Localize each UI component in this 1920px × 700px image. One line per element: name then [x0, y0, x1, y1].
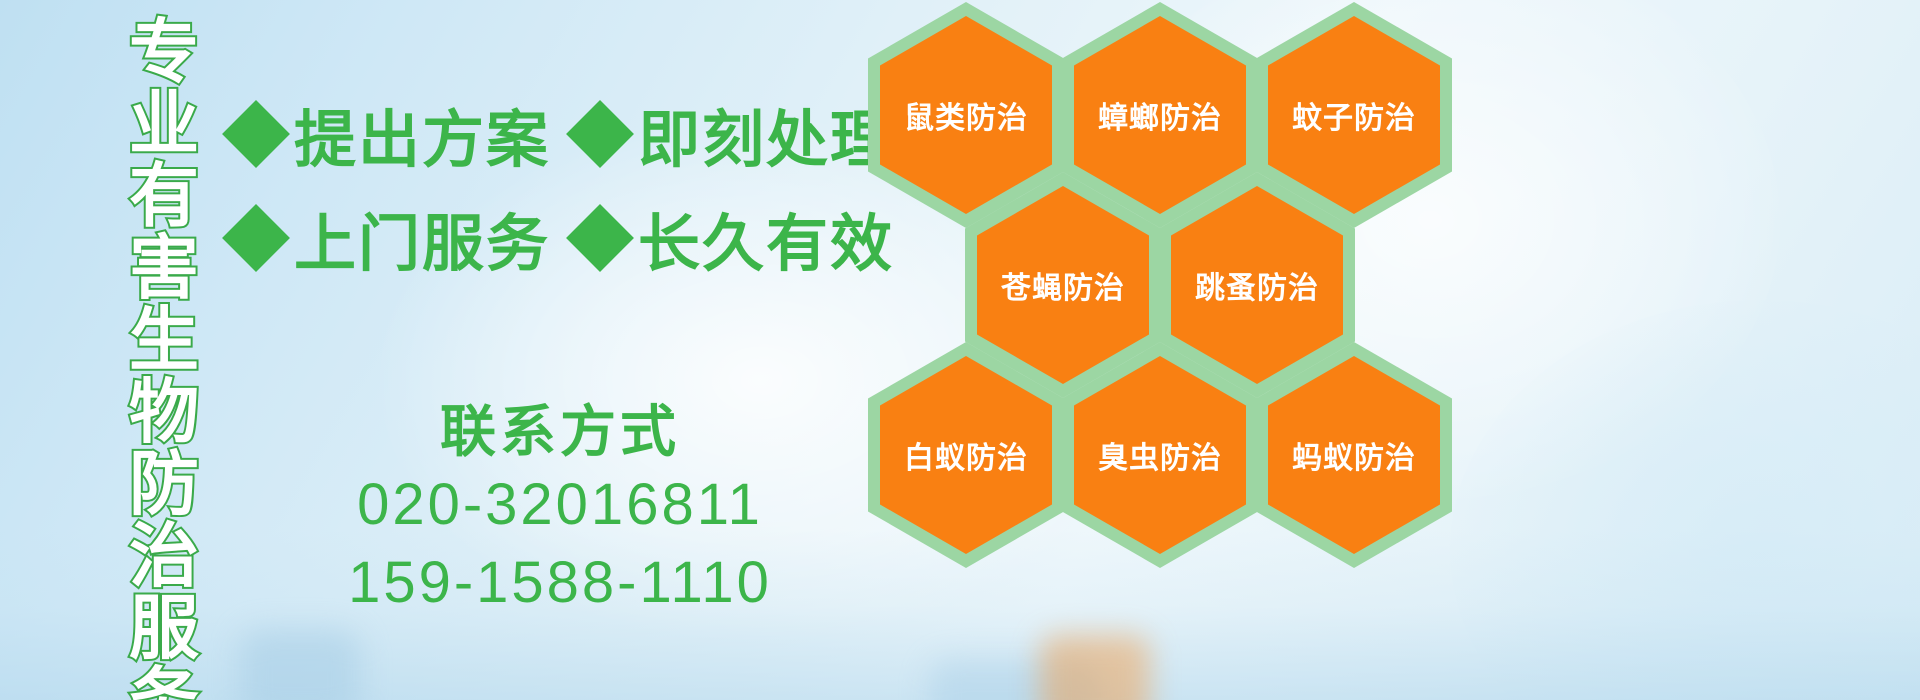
service-label: 蚂蚁防治 [1292, 433, 1416, 477]
hexagon-inner: 臭虫防治 [1074, 356, 1246, 554]
hexagon-inner: 蚂蚁防治 [1268, 356, 1440, 554]
hexagon-inner: 白蚁防治 [880, 356, 1052, 554]
vertical-headline-char: 治 [129, 520, 199, 592]
slogan-label: 提出方案 [294, 89, 550, 179]
service-hexagon-grid: 鼠类防治 蟑螂防治 蚊子防治 苍蝇防治 跳蚤防治 白蚁防治 [860, 0, 1460, 700]
vertical-headline-char: 害 [129, 232, 199, 304]
vertical-headline-char: 有 [129, 160, 199, 232]
hexagon-inner: 蟑螂防治 [1074, 16, 1246, 214]
service-label: 鼠类防治 [904, 93, 1028, 137]
background-blur-shape-left [240, 630, 360, 700]
vertical-headline-char: 生 [129, 304, 199, 376]
vertical-headline-char: 服 [129, 592, 199, 664]
vertical-headline-char: 防 [129, 448, 199, 520]
hexagon-inner: 苍蝇防治 [977, 186, 1149, 384]
service-label: 苍蝇防治 [1001, 263, 1125, 307]
contact-block: 联系方式 020-32016811 159-1588-1110 [300, 398, 820, 622]
slogan-item: 长久有效 [576, 193, 894, 283]
service-label: 臭虫防治 [1098, 433, 1222, 477]
hexagon-inner: 跳蚤防治 [1171, 186, 1343, 384]
service-label: 蟑螂防治 [1098, 93, 1222, 137]
hexagon-inner: 蚊子防治 [1268, 16, 1440, 214]
slogan-item: 提出方案 [232, 89, 550, 179]
slogan-row: 上门服务 长久有效 [232, 186, 872, 290]
slogan-label: 即刻处理 [638, 89, 894, 179]
diamond-icon [222, 204, 290, 272]
phone-number-landline[interactable]: 020-32016811 [300, 466, 820, 544]
vertical-headline-char: 物 [129, 376, 199, 448]
phone-number-mobile[interactable]: 159-1588-1110 [300, 544, 820, 622]
slogan-label: 长久有效 [638, 193, 894, 283]
vertical-headline-char: 务 [129, 664, 199, 700]
slogan-label: 上门服务 [294, 193, 550, 283]
slogan-row: 提出方案 即刻处理 [232, 82, 872, 186]
hexagon-inner: 鼠类防治 [880, 16, 1052, 214]
slogan-item: 上门服务 [232, 193, 550, 283]
vertical-headline-char: 业 [129, 88, 199, 160]
diamond-icon [566, 100, 634, 168]
diamond-icon [222, 100, 290, 168]
vertical-headline-char: 专 [129, 16, 199, 88]
slogan-item: 即刻处理 [576, 89, 894, 179]
slogan-list: 提出方案 即刻处理 上门服务 长久有效 [232, 82, 872, 290]
contact-title: 联系方式 [300, 398, 820, 466]
service-label: 白蚁防治 [904, 433, 1028, 477]
diamond-icon [566, 204, 634, 272]
service-label: 跳蚤防治 [1195, 263, 1319, 307]
background-glow-corner [1450, 300, 1920, 700]
pest-control-banner: 专 业 有 害 生 物 防 治 服 务 提出方案 即刻处理 上门服务 [0, 0, 1920, 700]
vertical-headline: 专 业 有 害 生 物 防 治 服 务 [118, 16, 210, 684]
service-label: 蚊子防治 [1292, 93, 1416, 137]
